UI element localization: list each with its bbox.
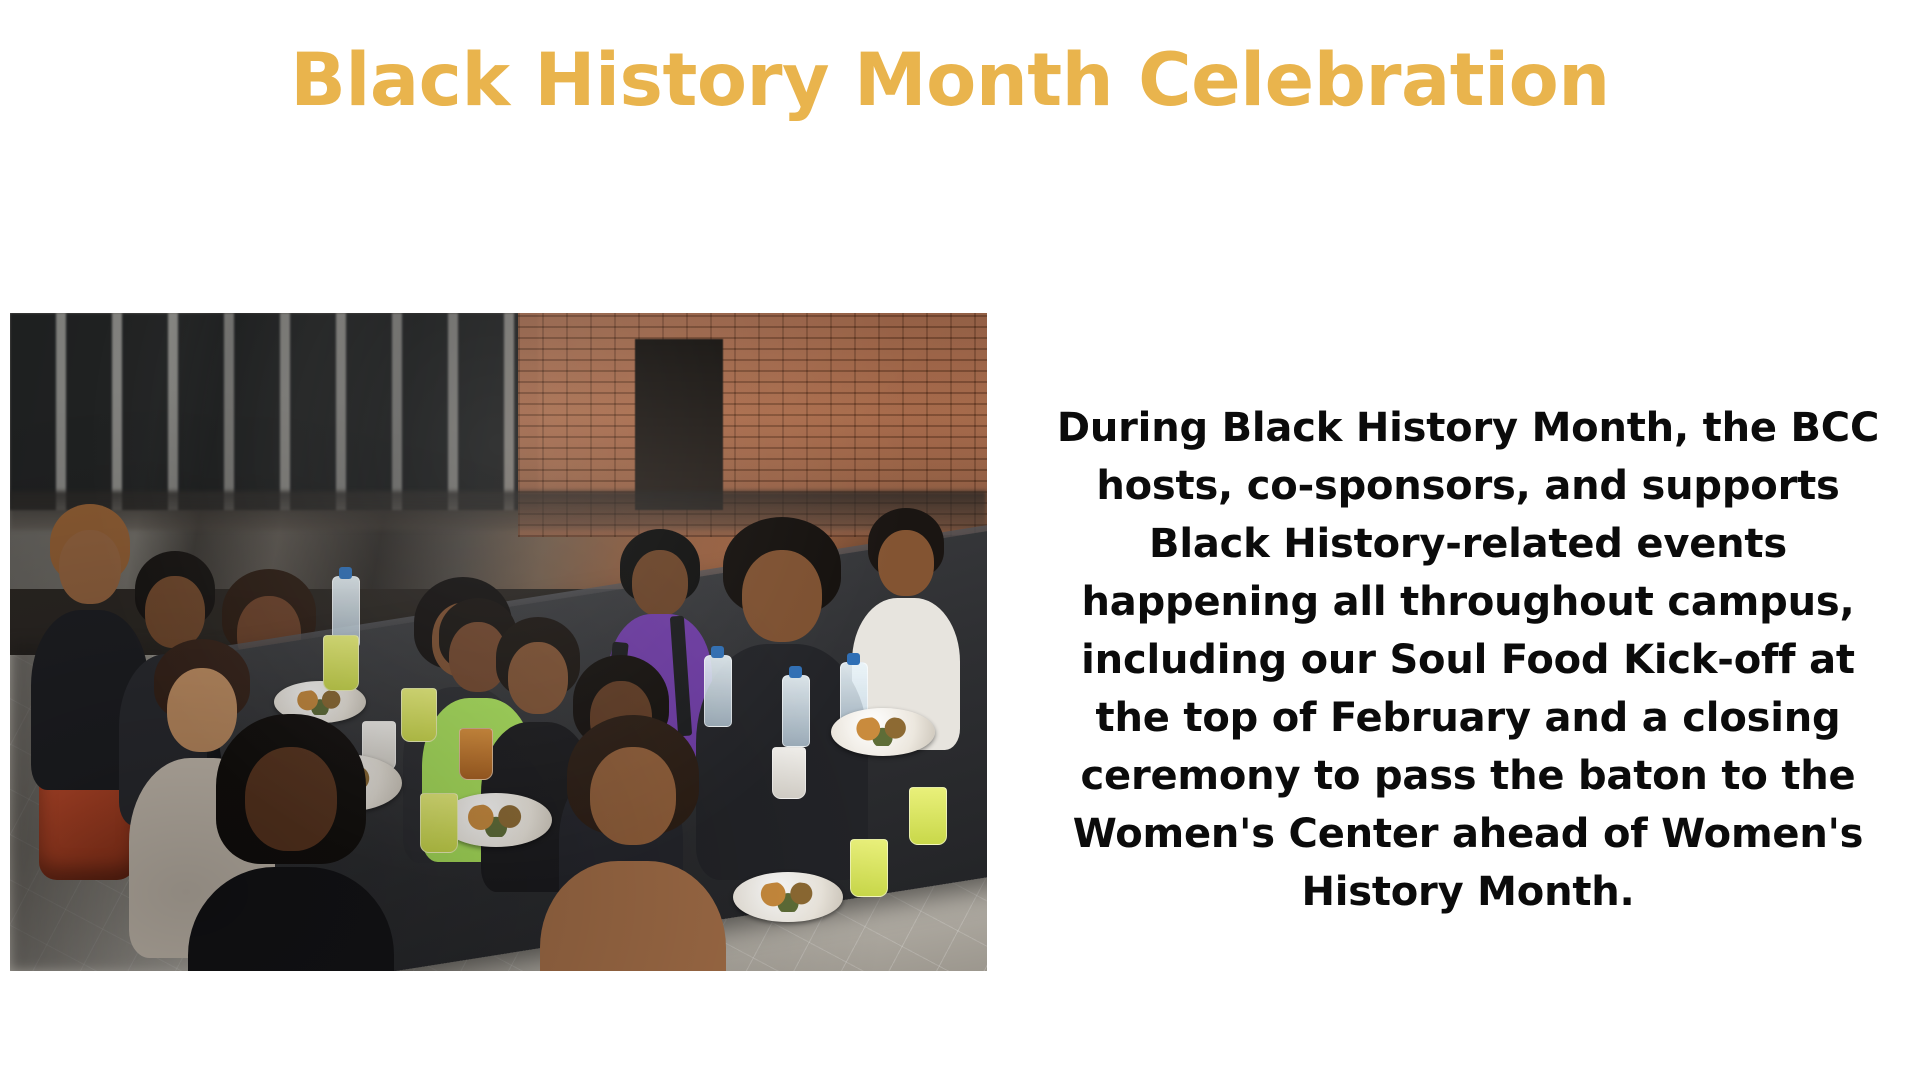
- photo-person-head: [59, 530, 121, 604]
- photo-person-body: [540, 861, 726, 971]
- description-line: the top of February and a closing: [1048, 689, 1888, 747]
- page-title: Black History Month Celebration: [0, 42, 1900, 121]
- photo-drink-cup: [420, 793, 458, 853]
- photo-person-head: [878, 530, 934, 596]
- photo-drink-cup: [772, 747, 806, 799]
- photo-person-head: [742, 550, 822, 642]
- photo-doorway: [635, 339, 723, 510]
- description-paragraph: During Black History Month, the BCC host…: [1048, 399, 1888, 921]
- photo-drink-cup: [850, 839, 888, 897]
- photo-food-plate: [831, 708, 935, 756]
- photo-food-plate: [733, 872, 843, 922]
- photo-person-head: [590, 747, 676, 845]
- description-line: hosts, co-sponsors, and supports: [1048, 457, 1888, 515]
- photo-awning: [10, 491, 987, 530]
- description-line: ceremony to pass the baton to the: [1048, 747, 1888, 805]
- description-line: happening all throughout campus,: [1048, 573, 1888, 631]
- photo-person: [186, 747, 396, 971]
- event-photo: [10, 313, 987, 971]
- photo-person: [538, 747, 728, 971]
- photo-person-head: [145, 576, 205, 648]
- description-line: History Month.: [1048, 863, 1888, 921]
- photo-water-bottle: [704, 655, 732, 727]
- photo-drink-cup: [459, 728, 493, 780]
- description-line: Women's Center ahead of Women's: [1048, 805, 1888, 863]
- slide-canvas: Black History Month Celebration: [0, 0, 1920, 1080]
- photo-person-head: [632, 550, 688, 616]
- description-line: including our Soul Food Kick-off at: [1048, 631, 1888, 689]
- photo-drink-cup: [401, 688, 437, 742]
- photo-water-bottle: [782, 675, 810, 747]
- photo-person-head: [167, 668, 237, 752]
- description-line: During Black History Month, the BCC: [1048, 399, 1888, 457]
- photo-drink-cup: [323, 635, 359, 691]
- photo-person-body: [188, 867, 394, 971]
- description-line: Black History-related events: [1048, 515, 1888, 573]
- photo-person-head: [245, 747, 337, 851]
- photo-building-glass-facade: [10, 313, 538, 510]
- photo-drink-cup: [909, 787, 947, 845]
- photo-illustration: [10, 313, 987, 971]
